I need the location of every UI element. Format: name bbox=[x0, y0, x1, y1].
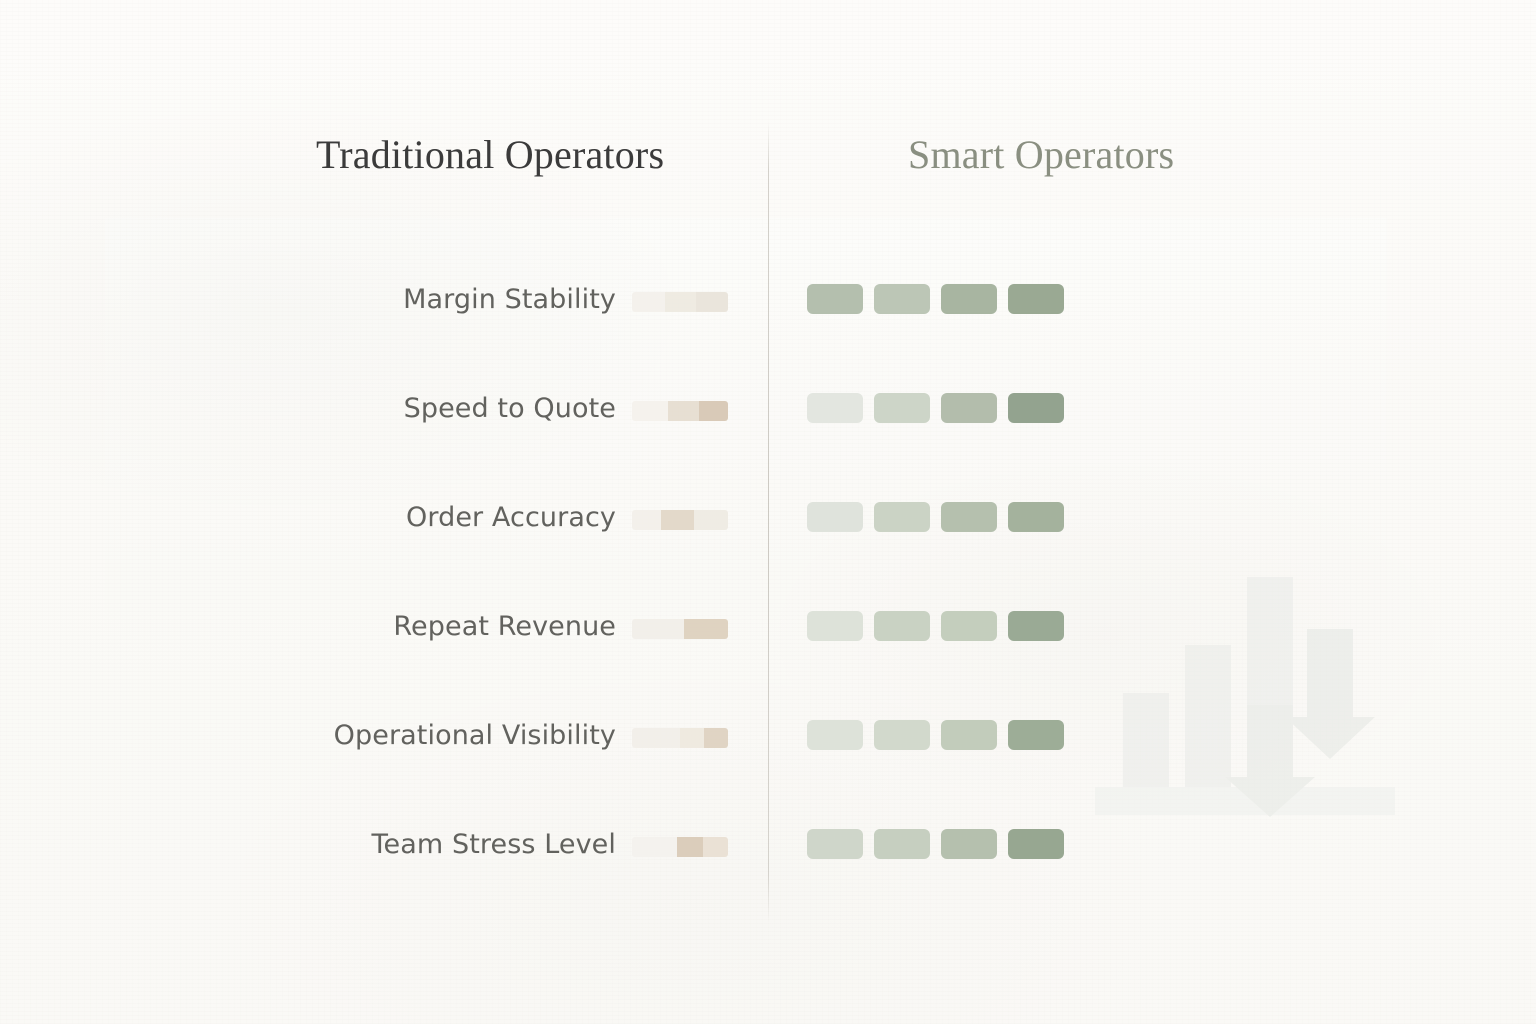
smart-chip bbox=[807, 284, 863, 314]
traditional-score-bar bbox=[632, 837, 728, 857]
smart-chip bbox=[1008, 502, 1064, 532]
comparison-infographic: Traditional Operators Smart Operators Ma… bbox=[0, 0, 1536, 1024]
smart-score-chips bbox=[807, 502, 1064, 532]
smart-chip bbox=[1008, 611, 1064, 641]
metric-label: Team Stress Level bbox=[150, 829, 616, 860]
traditional-bar-segment bbox=[632, 401, 668, 421]
smart-chip bbox=[874, 720, 930, 750]
traditional-bar-segment bbox=[632, 510, 661, 530]
smart-chip bbox=[1008, 720, 1064, 750]
traditional-bar-segment bbox=[632, 728, 680, 748]
metric-row: Speed to Quote bbox=[0, 383, 1536, 433]
metric-row: Operational Visibility bbox=[0, 710, 1536, 760]
metric-rows: Margin StabilitySpeed to QuoteOrder Accu… bbox=[0, 0, 1536, 1024]
traditional-bar-segment bbox=[684, 619, 728, 639]
smart-chip bbox=[941, 611, 997, 641]
smart-score-chips bbox=[807, 720, 1064, 750]
traditional-score-bar bbox=[632, 728, 728, 748]
metric-label: Operational Visibility bbox=[150, 720, 616, 751]
smart-chip bbox=[807, 829, 863, 859]
smart-chip bbox=[874, 829, 930, 859]
traditional-score-bar bbox=[632, 401, 728, 421]
traditional-bar-segment bbox=[632, 292, 665, 312]
metric-label: Order Accuracy bbox=[150, 502, 616, 533]
smart-chip bbox=[941, 284, 997, 314]
traditional-bar-segment bbox=[680, 728, 704, 748]
smart-chip bbox=[941, 829, 997, 859]
traditional-bar-segment bbox=[696, 292, 728, 312]
smart-chip bbox=[807, 502, 863, 532]
traditional-bar-segment bbox=[677, 837, 703, 857]
traditional-bar-segment bbox=[632, 619, 684, 639]
smart-chip bbox=[807, 611, 863, 641]
smart-chip bbox=[941, 502, 997, 532]
metric-row: Team Stress Level bbox=[0, 819, 1536, 869]
traditional-score-bar bbox=[632, 619, 728, 639]
smart-chip bbox=[874, 611, 930, 641]
smart-chip bbox=[874, 284, 930, 314]
smart-chip bbox=[807, 393, 863, 423]
smart-chip bbox=[941, 720, 997, 750]
smart-score-chips bbox=[807, 393, 1064, 423]
smart-chip bbox=[1008, 829, 1064, 859]
traditional-bar-segment bbox=[703, 837, 728, 857]
metric-row: Repeat Revenue bbox=[0, 601, 1536, 651]
smart-chip bbox=[874, 502, 930, 532]
smart-chip bbox=[874, 393, 930, 423]
traditional-bar-segment bbox=[694, 510, 728, 530]
smart-score-chips bbox=[807, 284, 1064, 314]
traditional-bar-segment bbox=[632, 837, 677, 857]
smart-chip bbox=[1008, 284, 1064, 314]
metric-row: Order Accuracy bbox=[0, 492, 1536, 542]
smart-chip bbox=[1008, 393, 1064, 423]
traditional-score-bar bbox=[632, 292, 728, 312]
smart-score-chips bbox=[807, 611, 1064, 641]
traditional-bar-segment bbox=[661, 510, 695, 530]
traditional-bar-segment bbox=[665, 292, 697, 312]
traditional-bar-segment bbox=[699, 401, 728, 421]
traditional-bar-segment bbox=[704, 728, 728, 748]
traditional-bar-segment bbox=[668, 401, 699, 421]
metric-row: Margin Stability bbox=[0, 274, 1536, 324]
smart-chip bbox=[941, 393, 997, 423]
metric-label: Repeat Revenue bbox=[150, 611, 616, 642]
traditional-score-bar bbox=[632, 510, 728, 530]
metric-label: Speed to Quote bbox=[150, 393, 616, 424]
smart-chip bbox=[807, 720, 863, 750]
smart-score-chips bbox=[807, 829, 1064, 859]
metric-label: Margin Stability bbox=[150, 284, 616, 315]
